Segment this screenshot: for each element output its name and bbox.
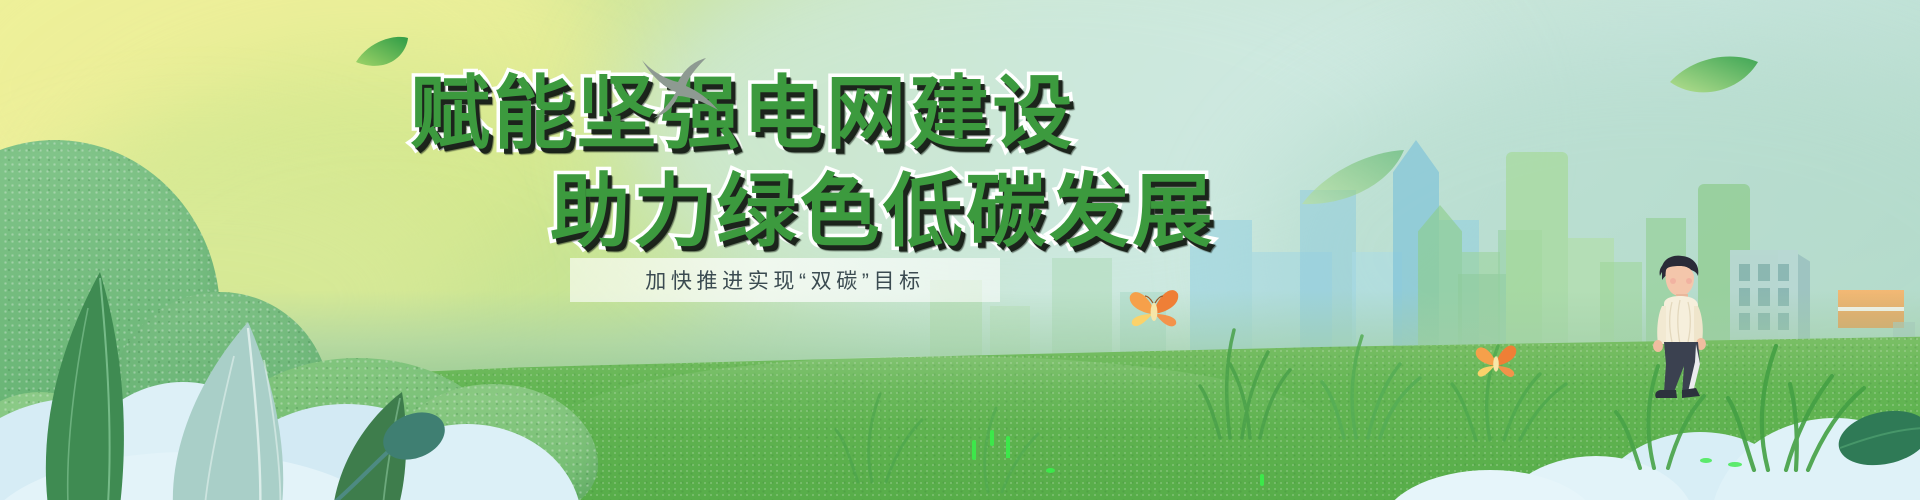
walking-person [1638, 252, 1724, 402]
subtitle-bar: 加快推进实现“双碳”目标 [570, 258, 1000, 302]
butterfly-icon [1128, 286, 1180, 332]
leaf-stem-teal [318, 404, 448, 500]
apartment-windows [1739, 264, 1789, 330]
floating-leaf-icon [1298, 148, 1408, 208]
swallow-bird-icon [630, 58, 720, 120]
headline-line-2-text: 助力绿色低碳发展 [550, 167, 1216, 256]
floating-leaf-icon [352, 32, 412, 76]
accent-mark [1728, 462, 1742, 467]
accent-mark [1260, 474, 1264, 486]
accent-mark [1700, 458, 1712, 463]
butterfly-icon [1474, 342, 1518, 382]
apartment-building [1730, 250, 1798, 348]
floating-leaf-icon [1668, 48, 1760, 104]
headline-line-1: 赋能坚强电网建设 [410, 74, 1076, 154]
accent-mark [972, 440, 976, 460]
eco-power-grid-banner: 赋能坚强电网建设 助力绿色低碳发展 加快推进实现“双碳”目标 [0, 0, 1920, 500]
building-silhouette [1300, 190, 1356, 370]
accent-mark [1046, 468, 1055, 473]
headline-line-1-text: 赋能坚强电网建设 [410, 69, 1076, 158]
subtitle-text: 加快推进实现“双碳”目标 [645, 265, 924, 295]
headline-line-2: 助力绿色低碳发展 [550, 172, 1216, 252]
leaf-bottom-right [1826, 400, 1920, 480]
accent-mark [990, 430, 994, 446]
accent-mark [1006, 436, 1010, 458]
building-tower-tall-green [1506, 152, 1568, 370]
